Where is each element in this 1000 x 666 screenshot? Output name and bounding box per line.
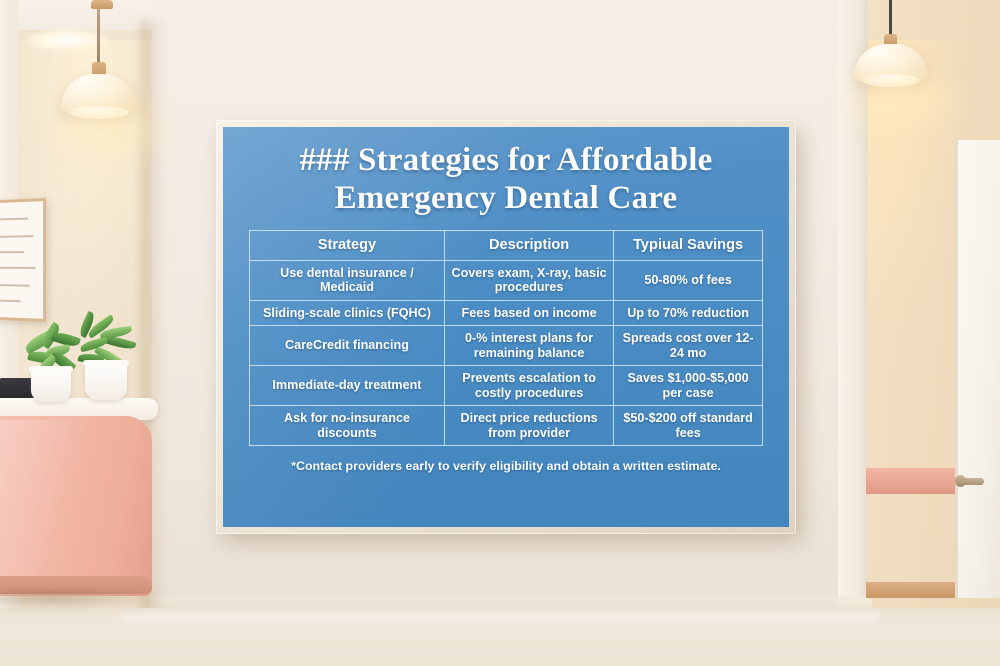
table-header-row: Strategy Description Typiual Savings xyxy=(250,231,763,261)
cell-description: Prevents escalation to costly procedures xyxy=(444,366,613,406)
desk-floor-shadow xyxy=(0,590,162,610)
cell-strategy: Immediate-day treatment xyxy=(250,366,445,406)
cell-description: 0-% interest plans for remaining balance xyxy=(444,326,613,366)
cell-savings: Saves $1,000-$5,000 per case xyxy=(614,366,763,406)
poster-footnote: *Contact providers early to verify eligi… xyxy=(223,459,789,473)
poster-surface: ### Strategies for Affordable Emergency … xyxy=(223,127,789,527)
poster-title-line1: ### Strategies for Affordable xyxy=(247,141,765,179)
poster-title: ### Strategies for Affordable Emergency … xyxy=(247,141,765,217)
column-header-description: Description xyxy=(444,231,613,261)
cell-savings: 50-80% of fees xyxy=(614,260,763,300)
clinic-lobby-scene: ### Strategies for Affordable Emergency … xyxy=(0,0,1000,666)
wall-poster[interactable]: ### Strategies for Affordable Emergency … xyxy=(216,120,796,534)
lamp-glow-right xyxy=(834,56,974,144)
table-row: Immediate-day treatment Prevents escalat… xyxy=(250,366,763,406)
table-row: Sliding-scale clinics (FQHC) Fees based … xyxy=(250,300,763,326)
door[interactable] xyxy=(955,140,1000,598)
cell-savings: $50-$200 off standard fees xyxy=(614,406,763,446)
desk-highlight xyxy=(0,420,110,590)
cell-strategy: Ask for no-insurance discounts xyxy=(250,406,445,446)
cell-description: Fees based on income xyxy=(444,300,613,326)
cell-description: Direct price reductions from provider xyxy=(444,406,613,446)
cell-strategy: CareCredit financing xyxy=(250,326,445,366)
cell-savings: Up to 70% reduction xyxy=(614,300,763,326)
cell-savings: Spreads cost over 12-24 mo xyxy=(614,326,763,366)
door-knob[interactable] xyxy=(955,475,966,487)
column-header-strategy: Strategy xyxy=(250,231,445,261)
table-row: CareCredit financing 0-% interest plans … xyxy=(250,326,763,366)
framed-certificate xyxy=(0,198,46,322)
cell-strategy: Sliding-scale clinics (FQHC) xyxy=(250,300,445,326)
poster-frame: ### Strategies for Affordable Emergency … xyxy=(216,120,796,534)
strategies-table: Strategy Description Typiual Savings Use… xyxy=(249,230,763,446)
poster-title-line2: Emergency Dental Care xyxy=(247,179,765,217)
column-header-savings: Typiual Savings xyxy=(614,231,763,261)
table-row: Use dental insurance / Medicaid Covers e… xyxy=(250,260,763,300)
cell-strategy: Use dental insurance / Medicaid xyxy=(250,260,445,300)
floor-sheen xyxy=(120,614,880,626)
lamp-glow-left xyxy=(42,88,178,172)
cell-description: Covers exam, X-ray, basic procedures xyxy=(444,260,613,300)
table-row: Ask for no-insurance discounts Direct pr… xyxy=(250,406,763,446)
